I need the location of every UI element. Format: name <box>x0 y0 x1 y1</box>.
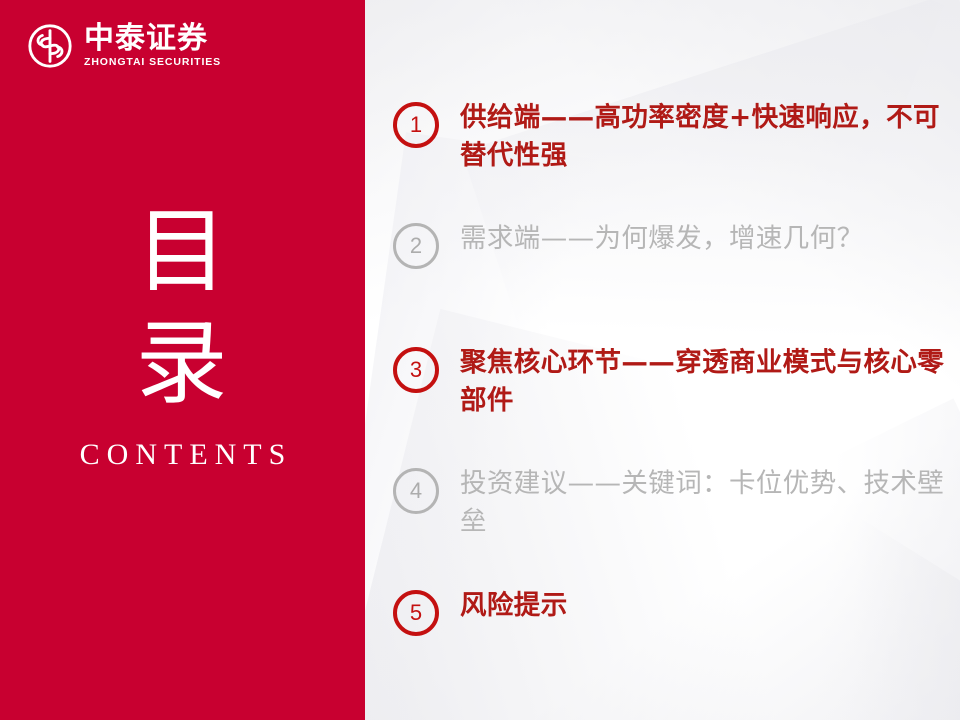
toc-number-badge-3[interactable]: 3 <box>393 347 439 393</box>
toc-label-3[interactable]: 聚焦核心环节——穿透商业模式与核心零部件 <box>460 344 960 419</box>
toc-item-4[interactable]: 4 投资建议——关键词：卡位优势、技术壁垒 <box>393 465 960 540</box>
brand-name-cn: 中泰证券 <box>84 24 221 55</box>
contents-title-cn-line1: 目 <box>0 196 365 308</box>
toc-item-5[interactable]: 5 风险提示 <box>393 587 568 636</box>
toc-item-3[interactable]: 3 聚焦核心环节——穿透商业模式与核心零部件 <box>393 344 960 419</box>
toc-number-badge-4[interactable]: 4 <box>393 468 439 514</box>
contents-title-cn: 目 录 <box>0 196 365 420</box>
toc-label-1[interactable]: 供给端——高功率密度+快速响应，不可替代性强 <box>460 99 960 174</box>
toc-label-4[interactable]: 投资建议——关键词：卡位优势、技术壁垒 <box>460 465 960 540</box>
contents-title-block: 目 录 CONTENTS <box>0 196 365 472</box>
brand-logo: 中泰证券 ZHONGTAI SECURITIES <box>26 22 221 70</box>
contents-title-en: CONTENTS <box>0 438 365 472</box>
brand-name-en: ZHONGTAI SECURITIES <box>84 57 221 69</box>
table-of-contents: 1 供给端——高功率密度+快速响应，不可替代性强 2 需求端——为何爆发，增速几… <box>365 0 960 720</box>
toc-item-1[interactable]: 1 供给端——高功率密度+快速响应，不可替代性强 <box>393 99 960 174</box>
brand-wordmark: 中泰证券 ZHONGTAI SECURITIES <box>84 24 221 68</box>
contents-title-cn-line2: 录 <box>0 308 365 420</box>
toc-number-badge-2[interactable]: 2 <box>393 223 439 269</box>
toc-item-2[interactable]: 2 需求端——为何爆发，增速几何？ <box>393 220 864 269</box>
toc-label-5[interactable]: 风险提示 <box>460 587 568 625</box>
toc-label-2[interactable]: 需求端——为何爆发，增速几何？ <box>460 220 864 258</box>
toc-number-badge-5[interactable]: 5 <box>393 590 439 636</box>
slide-root: 中泰证券 ZHONGTAI SECURITIES 目 录 CONTENTS 1 … <box>0 0 960 720</box>
left-red-panel: 中泰证券 ZHONGTAI SECURITIES 目 录 CONTENTS <box>0 0 365 720</box>
toc-number-badge-1[interactable]: 1 <box>393 102 439 148</box>
zhongtai-circle-logo-icon <box>26 22 74 70</box>
